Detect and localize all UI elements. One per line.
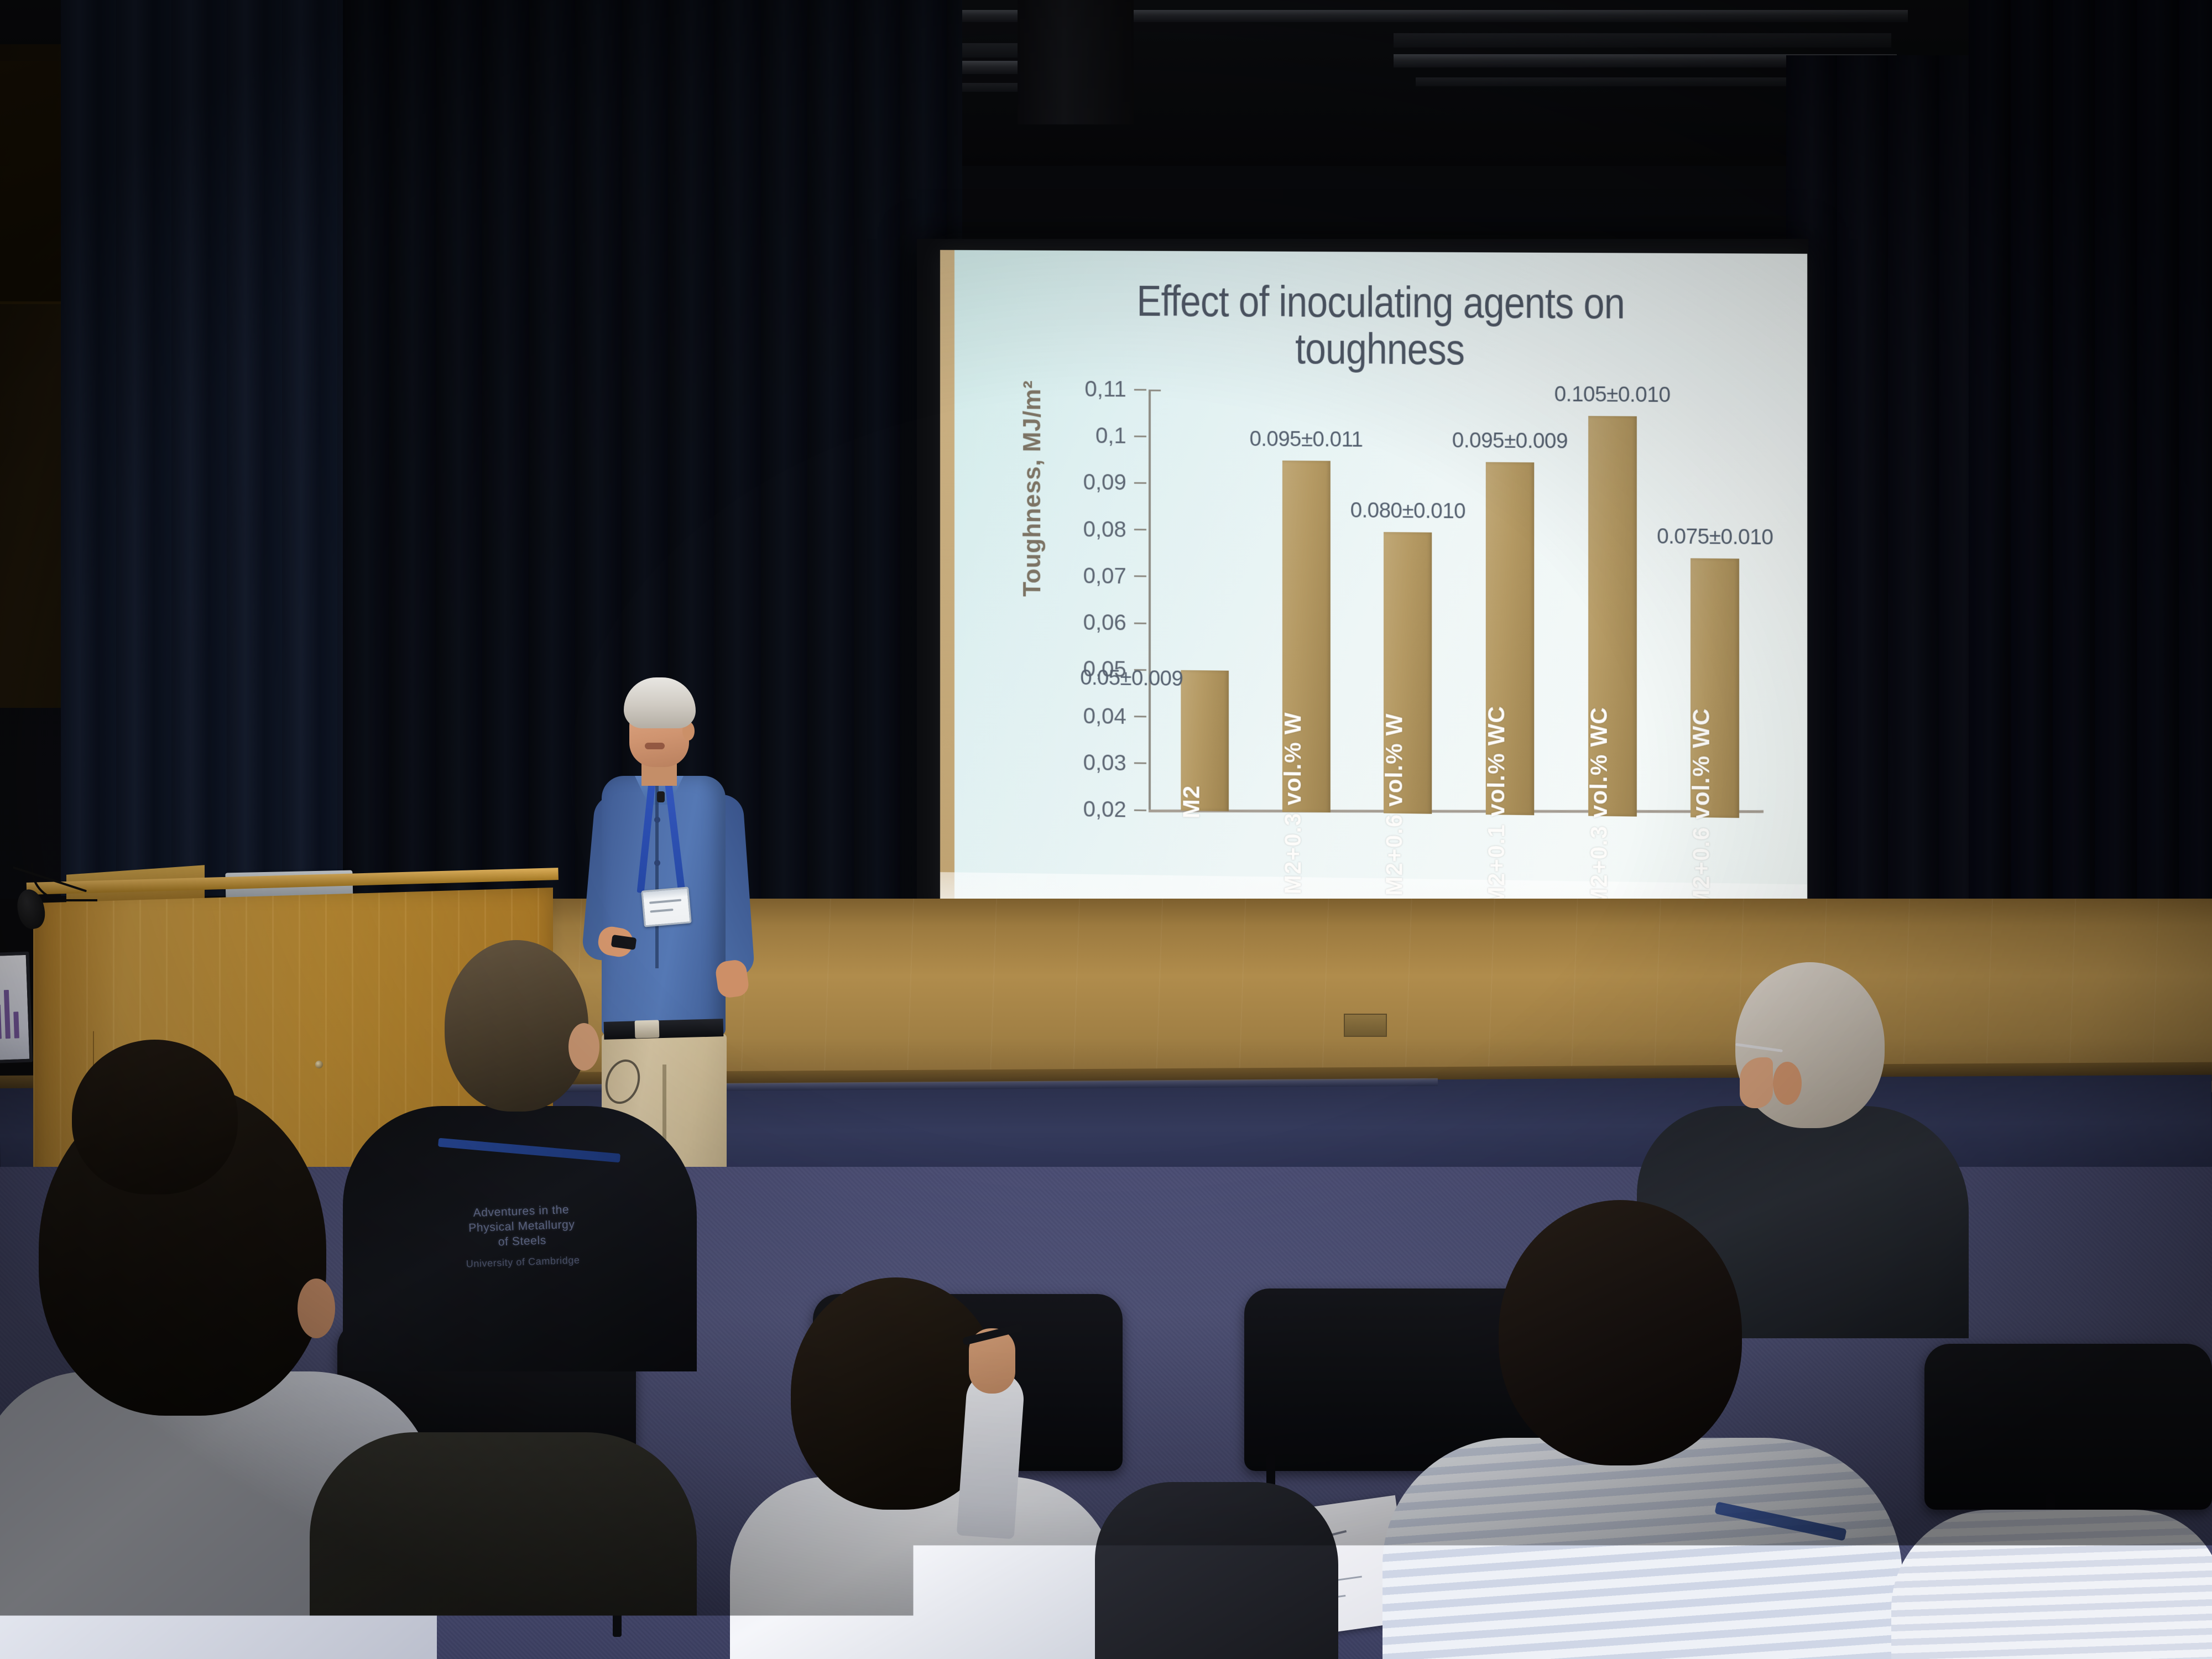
- bar-group: M2+0.6 vol.% W0.080±0.010: [1384, 391, 1432, 813]
- audience-ear: [298, 1279, 335, 1338]
- shirt-button: [654, 817, 660, 823]
- audience-sleeve: [957, 1370, 1026, 1540]
- y-axis-ticks: 0,110,10,090,080,070,060,050,040,030,02: [1067, 389, 1151, 812]
- shirt-button: [654, 860, 660, 866]
- ceiling-pillar: [1018, 0, 1134, 124]
- y-axis-tick-label: 0,11: [1048, 377, 1126, 402]
- bar-group: M2+0.3 vol.% W0.095±0.011: [1282, 390, 1330, 812]
- audience-head: [445, 940, 588, 1112]
- bar-category-label: M2+0.1 vol.% WC: [1483, 706, 1510, 906]
- bar-group: M2+0.3 vol.% WC0.105±0.010: [1588, 393, 1637, 817]
- y-axis-tick-label: 0,02: [1048, 796, 1126, 822]
- y-axis-tick-label: 0,08: [1048, 517, 1126, 542]
- audience-member-back-left: [72, 1040, 238, 1194]
- y-axis-tick-mark: [1134, 529, 1146, 530]
- audience-ear: [568, 1023, 599, 1071]
- y-axis-tick-mark: [1134, 809, 1146, 811]
- bar-group: M2+0.1 vol.% WC0.095±0.009: [1486, 392, 1534, 815]
- bar: M2+0.6 vol.% W: [1384, 532, 1432, 814]
- presenter-hair: [624, 677, 696, 728]
- bar-value-label: 0.05±0.009: [1080, 666, 1183, 691]
- y-axis-tick-label: 0,07: [1048, 563, 1126, 588]
- audience-striped-shirt: [1383, 1438, 1902, 1659]
- monitor-chart-bar: [4, 990, 11, 1039]
- y-axis-tick-mark: [1134, 576, 1146, 577]
- audience-member-far-right: [1891, 1449, 2212, 1659]
- y-axis-tick-label: 0,06: [1048, 610, 1126, 636]
- audience-head: [72, 1040, 238, 1194]
- audience-shirt: [1095, 1482, 1338, 1659]
- y-axis-line: [1149, 389, 1151, 811]
- y-axis-tick-mark: [1134, 763, 1146, 764]
- audience-member-centre-dark: [1095, 1416, 1338, 1659]
- y-axis-tick-mark: [1134, 482, 1146, 484]
- bar-value-label: 0.105±0.010: [1554, 383, 1671, 408]
- lapel-microphone-icon: [657, 791, 665, 802]
- monitor-chart-bar: [13, 1011, 19, 1038]
- y-axis-tick-label: 0,1: [1048, 423, 1126, 448]
- bar-category-label: M2+0.3 vol.% WC: [1585, 707, 1612, 908]
- lectern-screw: [315, 1061, 323, 1068]
- presenter-mouth: [645, 743, 665, 749]
- audience-shirt: [310, 1432, 697, 1659]
- confidence-monitor: [0, 952, 33, 1064]
- bar: M2: [1181, 670, 1229, 811]
- audience-ear: [1773, 1062, 1802, 1105]
- lecture-theatre-photo: Effect of inoculating agents on toughnes…: [0, 0, 2212, 1659]
- badge-text-line: [650, 909, 673, 913]
- audience-shirt: [1891, 1510, 2212, 1659]
- y-axis-tick-label: 0,09: [1048, 469, 1126, 495]
- bar-value-label: 0.080±0.010: [1350, 499, 1465, 524]
- audience-member-striped: [1383, 1200, 1902, 1659]
- y-axis-tick-mark: [1134, 622, 1146, 624]
- bar-category-label: M2+0.3 vol.% W: [1279, 712, 1306, 894]
- name-badge: [641, 886, 691, 927]
- bar-category-label: M2: [1178, 785, 1204, 818]
- bar: M2+0.1 vol.% WC: [1486, 462, 1534, 815]
- ceiling-truss-bar: [1394, 33, 1891, 48]
- y-axis-tick-label: 0,04: [1048, 703, 1126, 729]
- audience-head: [1499, 1200, 1742, 1465]
- bar: M2+0.3 vol.% WC: [1588, 416, 1637, 816]
- bar-value-label: 0.095±0.011: [1249, 427, 1363, 452]
- y-axis-tick-mark: [1134, 716, 1146, 717]
- bar: M2+0.6 vol.% WC: [1691, 558, 1739, 818]
- audience-member-left-shoulder: [310, 1338, 697, 1659]
- bar-value-label: 0.095±0.009: [1452, 429, 1568, 454]
- plot-area: M20.05±0.009M2+0.3 vol.% W0.095±0.011M2+…: [1154, 390, 1766, 818]
- y-axis-tick-mark: [1134, 389, 1146, 390]
- audience-face: [1740, 1057, 1773, 1108]
- bar-value-label: 0.075±0.010: [1657, 525, 1773, 550]
- bar-group: M20.05±0.009: [1181, 390, 1229, 811]
- badge-text-line: [649, 899, 681, 904]
- bar: M2+0.3 vol.% W: [1282, 461, 1330, 812]
- y-axis-tick-label: 0,03: [1048, 750, 1126, 776]
- bar-chart: Toughness, MJ/m² 0,110,10,090,080,070,06…: [1029, 389, 1774, 859]
- y-axis-tick-mark: [1134, 435, 1146, 437]
- bar-category-label: M2+0.6 vol.% WC: [1688, 708, 1715, 909]
- monitor-chart-bar: [0, 1005, 2, 1039]
- projected-slide: Effect of inoculating agents on toughnes…: [940, 250, 1807, 922]
- stage-curtain-far-right: [1969, 0, 2212, 1051]
- bar-group: M2+0.6 vol.% WC0.075±0.010: [1691, 393, 1739, 818]
- stage-floor-hatch: [1344, 1014, 1387, 1037]
- slide-accent-stripe: [940, 250, 954, 910]
- slide-title: Effect of inoculating agents on toughnes…: [1058, 277, 1704, 374]
- ceiling-truss-bar: [1416, 77, 1836, 86]
- tshirt-print: Adventures in the Physical Metallurgy of…: [432, 1201, 612, 1271]
- bar-category-label: M2+0.6 vol.% W: [1381, 713, 1408, 896]
- audience-member-raised-hand: [730, 1277, 1117, 1659]
- y-axis-title: Toughness, MJ/m²: [1019, 372, 1046, 605]
